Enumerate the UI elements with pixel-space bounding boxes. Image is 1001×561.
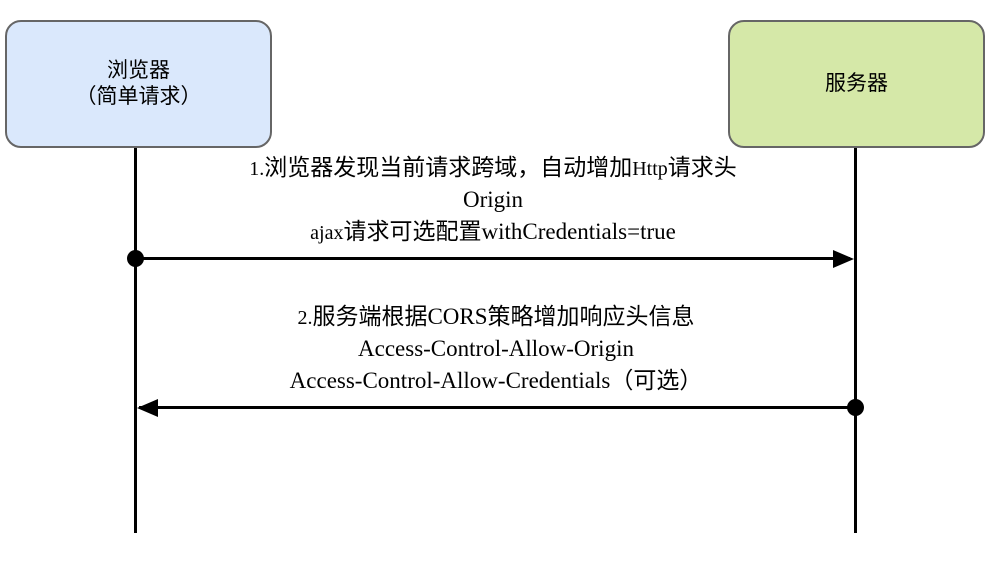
message-label-segment: Origin [463, 187, 523, 212]
lifeline-server [854, 148, 857, 533]
participant-browser-title: 浏览器 [107, 58, 170, 84]
message-1-label: 1.浏览器发现当前请求跨域，自动增加Http请求头Originajax请求可选配… [136, 152, 850, 248]
participant-server-title: 服务器 [825, 71, 888, 97]
message-2-arrow-line[interactable] [139, 406, 853, 409]
message-label-segment: （可选） [610, 367, 702, 393]
message-label-segment: Http [632, 158, 668, 180]
sequence-diagram-canvas: 浏览器 （简单请求） 服务器 1.浏览器发现当前请求跨域，自动增加Http请求头… [0, 0, 1001, 561]
message-1-origin-dot-icon [127, 250, 144, 267]
message-label-segment: Access-Control-Allow-Credentials [290, 368, 611, 393]
message-label-segment: 浏览器发现当前请求跨域，自动增加 [264, 154, 632, 180]
message-label-segment: 2. [297, 307, 312, 329]
message-label-line: Access-Control-Allow-Credentials（可选） [139, 365, 853, 397]
message-1-arrow-line[interactable] [136, 257, 850, 260]
message-label-segment: 请求可选配置 [343, 218, 481, 244]
participant-box-browser[interactable]: 浏览器 （简单请求） [5, 20, 272, 148]
message-label-line: 2.服务端根据CORS策略增加响应头信息 [139, 301, 853, 333]
message-label-segment: CORS [427, 304, 487, 329]
message-2-origin-dot-icon [847, 399, 864, 416]
message-label-segment: 策略增加响应头信息 [488, 303, 695, 329]
message-label-line: ajax请求可选配置withCredentials=true [136, 216, 850, 248]
participant-box-server[interactable]: 服务器 [728, 20, 985, 148]
message-label-line: Access-Control-Allow-Origin [139, 333, 853, 365]
message-label-segment: 服务端根据 [312, 303, 427, 329]
message-label-segment: 请求头 [668, 154, 737, 180]
message-1-arrowhead-icon [833, 250, 854, 268]
message-label-line: 1.浏览器发现当前请求跨域，自动增加Http请求头 [136, 152, 850, 184]
message-2-arrowhead-icon [137, 399, 158, 417]
message-label-segment: withCredentials=true [481, 219, 675, 244]
message-label-segment: ajax [310, 222, 343, 244]
message-label-segment: 1. [249, 158, 264, 180]
participant-browser-subtitle: （简单请求） [76, 84, 202, 110]
message-2-label: 2.服务端根据CORS策略增加响应头信息Access-Control-Allow… [139, 301, 853, 397]
message-label-segment: Access-Control-Allow-Origin [358, 336, 634, 361]
message-label-line: Origin [136, 184, 850, 216]
